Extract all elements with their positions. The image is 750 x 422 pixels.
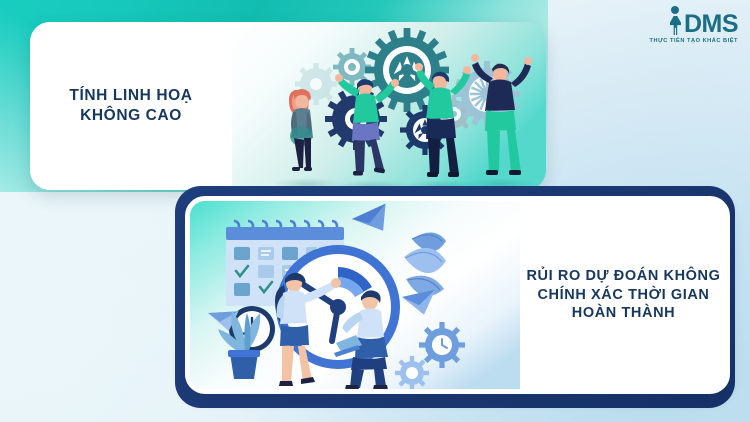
card-flexibility[interactable]: TÍNH LINH HOẠ KHÔNG CAO <box>30 22 546 190</box>
headline-line: TÍNH LINH HOẠ <box>69 86 192 106</box>
logo-tagline: THỰC TIỄN TẠO KHÁC BIỆT <box>650 38 738 44</box>
card-schedule-risk[interactable]: RỦI RO DỰ ĐOÁN KHÔNG CHÍNH XÁC THỜI GIAN… <box>185 196 730 394</box>
card-schedule-risk-text-pane: RỦI RO DỰ ĐOÁN KHÔNG CHÍNH XÁC THỜI GIAN… <box>520 201 725 389</box>
card-flexibility-headline: TÍNH LINH HOẠ KHÔNG CAO <box>69 86 192 126</box>
headline-line: RỦI RO DỰ ĐOÁN KHÔNG <box>526 267 720 286</box>
card-schedule-risk-illustration <box>190 201 520 389</box>
headline-line: KHÔNG CAO <box>69 106 192 126</box>
card-schedule-risk-headline: RỦI RO DỰ ĐOÁN KHÔNG CHÍNH XÁC THỜI GIAN… <box>526 267 720 324</box>
headline-line: HOÀN THÀNH <box>526 304 720 323</box>
logo-wordmark: DMS <box>684 13 738 37</box>
brand-logo[interactable]: DMS THỰC TIỄN TẠO KHÁC BIỆT <box>650 6 738 44</box>
card-flexibility-illustration <box>232 22 546 190</box>
card-flexibility-text-pane: TÍNH LINH HOẠ KHÔNG CAO <box>30 22 232 190</box>
deadline-clock-calendar-illustration <box>190 201 520 389</box>
person-figure-icon <box>668 6 683 36</box>
infographic-canvas: TÍNH LINH HOẠ KHÔNG CAO <box>0 0 750 422</box>
logo-lockup: DMS <box>668 6 738 36</box>
logo-head-shape <box>671 6 679 14</box>
teamwork-gears-illustration <box>232 22 546 190</box>
logo-body-shape <box>670 16 681 35</box>
headline-line: CHÍNH XÁC THỜI GIAN <box>526 286 720 305</box>
